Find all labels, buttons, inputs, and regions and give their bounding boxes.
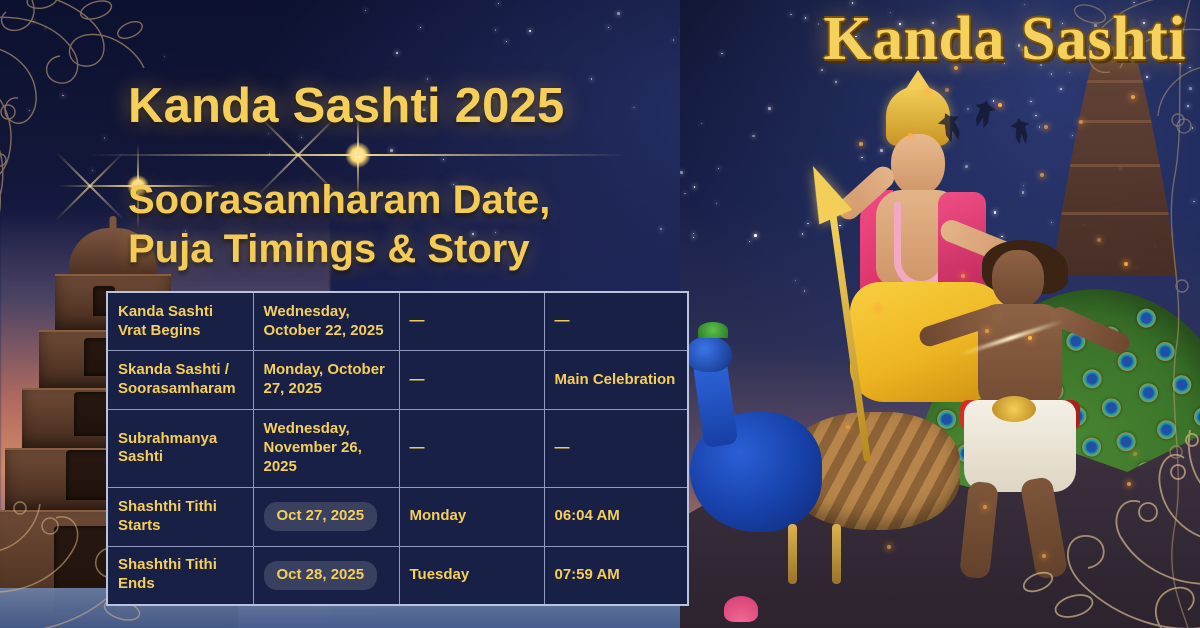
ember-particle (983, 505, 987, 509)
table-row: Subrahmanya SashtiWednesday, November 26… (107, 409, 688, 487)
cell-date: Monday, October 27, 2025 (253, 351, 399, 409)
cell-date: Wednesday, November 26, 2025 (253, 409, 399, 487)
cell-day: Tuesday (399, 546, 544, 605)
cell-date: Wednesday, October 22, 2025 (253, 292, 399, 351)
ember-particle (925, 89, 929, 93)
festival-dates-table: Kanda Sashti Vrat BeginsWednesday, Octob… (106, 291, 689, 606)
ember-particle (1044, 125, 1048, 129)
table-row: Skanda Sashti / SoorasamharamMonday, Oct… (107, 351, 688, 409)
cell-day: — (399, 351, 544, 409)
lotus-flower (724, 596, 758, 622)
ember-particle (1124, 262, 1128, 266)
table-row: Kanda Sashti Vrat BeginsWednesday, Octob… (107, 292, 688, 351)
cell-event-name: Shashthi Tithi Starts (107, 488, 253, 546)
ember-particle (1131, 95, 1135, 99)
date-pill: Oct 28, 2025 (264, 561, 378, 590)
cell-note: — (544, 409, 688, 487)
cell-note: Main Celebration (544, 351, 688, 409)
peacock-feather-eye (1136, 381, 1161, 406)
brand-title: Kanda Sashti (823, 4, 1186, 75)
page-title: Kanda Sashti 2025 (128, 78, 564, 134)
peacock-feather-eye (1155, 418, 1180, 443)
date-pill: Oct 27, 2025 (264, 502, 378, 531)
peacock-feather-eye (1169, 372, 1194, 397)
cell-date: Oct 28, 2025 (253, 546, 399, 605)
murugan-illustration (680, 0, 1200, 628)
cell-day: — (399, 292, 544, 351)
cell-note: — (544, 292, 688, 351)
table-row: Shashthi Tithi EndsOct 28, 2025Tuesday07… (107, 546, 688, 605)
cell-date: Oct 27, 2025 (253, 488, 399, 546)
cell-event-name: Subrahmanya Sashti (107, 409, 253, 487)
cell-event-name: Kanda Sashti Vrat Begins (107, 292, 253, 351)
table-row: Shashthi Tithi StartsOct 27, 2025Monday0… (107, 488, 688, 546)
peacock-feather-eye (1191, 405, 1200, 430)
cell-day: — (399, 409, 544, 487)
cell-event-name: Skanda Sashti / Soorasamharam (107, 351, 253, 409)
surapadman-demon-figure (930, 250, 1140, 580)
ember-particle (876, 306, 880, 310)
subtitle-line-1: Soorasamharam Date, (128, 176, 550, 225)
vel-spear-tip (796, 159, 852, 225)
cell-day: Monday (399, 488, 544, 546)
peacock-feather-eye (1153, 339, 1178, 364)
ember-particle (1028, 336, 1032, 340)
cell-note: 06:04 AM (544, 488, 688, 546)
cell-event-name: Shashthi Tithi Ends (107, 546, 253, 605)
poster-canvas: Kanda Sashti Kanda Sashti 2025 Soorasamh… (0, 0, 1200, 628)
subtitle-line-2: Puja Timings & Story (128, 225, 550, 274)
page-subtitle: Soorasamharam Date, Puja Timings & Story (128, 176, 550, 274)
ember-particle (1040, 173, 1044, 177)
ember-particle (859, 142, 863, 146)
cell-note: 07:59 AM (544, 546, 688, 605)
ember-particle (1097, 238, 1101, 242)
ember-particle (1079, 120, 1083, 124)
